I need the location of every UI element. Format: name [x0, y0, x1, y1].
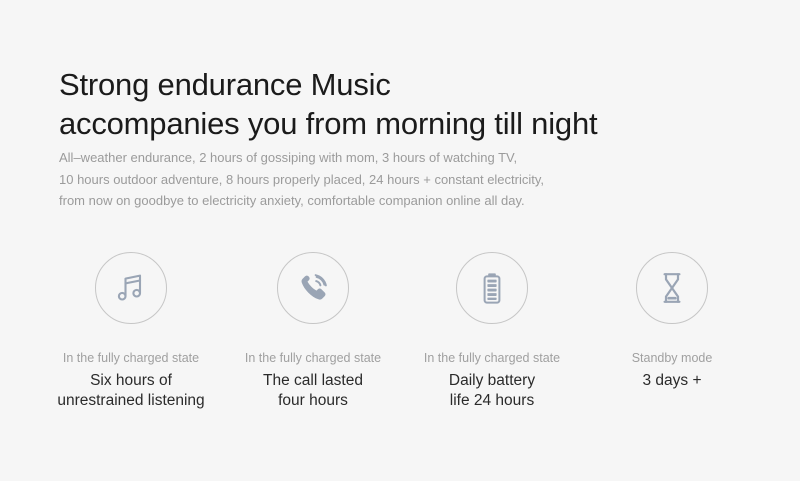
- phone-call-icon: [294, 269, 332, 307]
- music-note-icon: [112, 269, 150, 307]
- battery-icon: [473, 269, 511, 307]
- description-line-1: All–weather endurance, 2 hours of gossip…: [59, 147, 679, 169]
- feature-title: Daily battery life 24 hours: [392, 371, 592, 411]
- promo-banner: Strong endurance Music accompanies you f…: [0, 0, 800, 481]
- description-line-3: from now on goodbye to electricity anxie…: [59, 190, 679, 212]
- icon-circle: [277, 252, 349, 324]
- hourglass-icon: [653, 269, 691, 307]
- feature-title-line-1: Daily battery: [392, 371, 592, 391]
- feature-title: Six hours of unrestrained listening: [31, 371, 231, 411]
- feature-title-line-2: four hours: [213, 391, 413, 411]
- icon-circle: [95, 252, 167, 324]
- feature-list: In the fully charged state Six hours of …: [0, 252, 800, 422]
- feature-subtitle: In the fully charged state: [392, 350, 592, 366]
- page-title: Strong endurance Music accompanies you f…: [59, 65, 759, 143]
- icon-circle: [456, 252, 528, 324]
- feature-title-line-2: unrestrained listening: [31, 391, 231, 411]
- icon-circle: [636, 252, 708, 324]
- feature-item-battery: In the fully charged state Daily battery…: [392, 252, 592, 411]
- description-paragraph: All–weather endurance, 2 hours of gossip…: [59, 147, 679, 212]
- feature-subtitle: In the fully charged state: [213, 350, 413, 366]
- feature-title-line-2: life 24 hours: [392, 391, 592, 411]
- feature-item-standby: Standby mode 3 days +: [572, 252, 772, 391]
- description-line-2: 10 hours outdoor adventure, 8 hours prop…: [59, 169, 679, 191]
- feature-subtitle: In the fully charged state: [31, 350, 231, 366]
- feature-subtitle: Standby mode: [572, 350, 772, 366]
- feature-item-listening: In the fully charged state Six hours of …: [31, 252, 231, 411]
- feature-title: 3 days +: [572, 371, 772, 391]
- feature-title-line-1: The call lasted: [213, 371, 413, 391]
- feature-title-line-1: Six hours of: [31, 371, 231, 391]
- feature-title-line-1: 3 days +: [572, 371, 772, 391]
- feature-title: The call lasted four hours: [213, 371, 413, 411]
- feature-item-call: In the fully charged state The call last…: [213, 252, 413, 411]
- headline-line-1: Strong endurance Music: [59, 65, 759, 104]
- headline-line-2: accompanies you from morning till night: [59, 104, 759, 143]
